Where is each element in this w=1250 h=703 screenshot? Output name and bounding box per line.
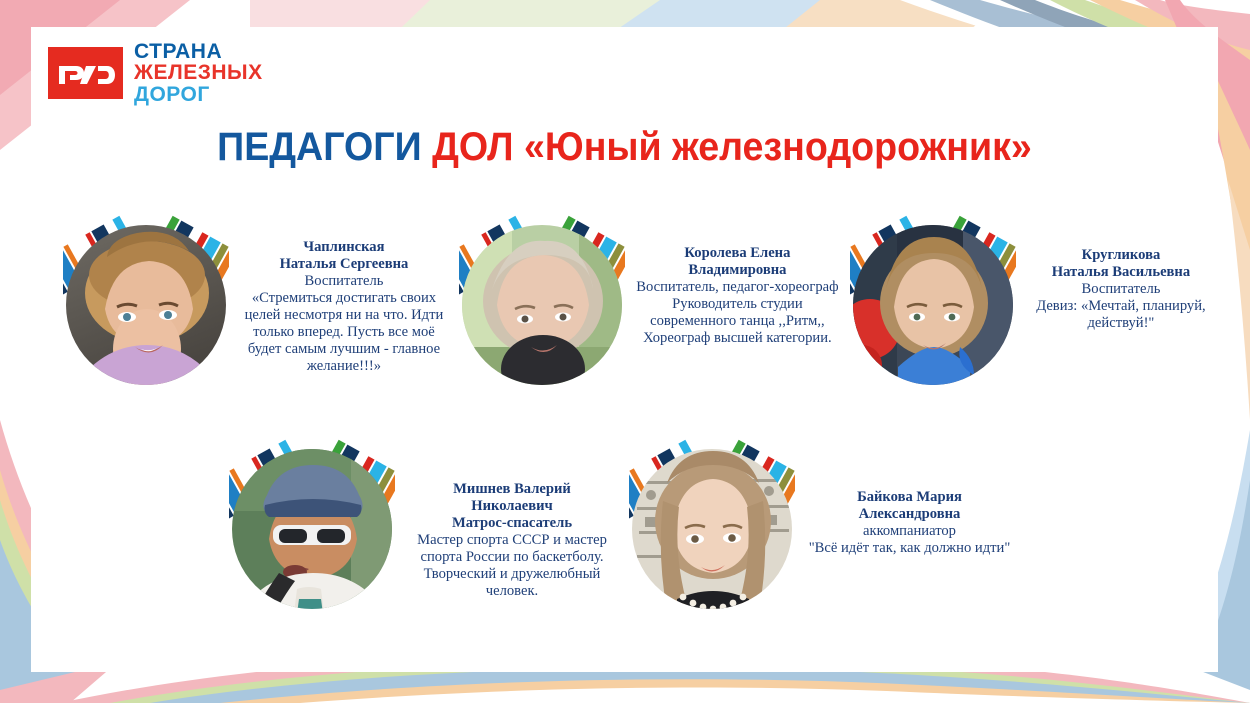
photo-chaplinskaya [66,225,226,397]
person-info: Кругликова Наталья Васильевна Воспитател… [1024,197,1218,332]
person-motto: Девиз: «Мечтай, планируй, действуй!" [1024,298,1218,332]
person-motto: Руководитель студии современного танца ,… [633,296,842,347]
person-role: Воспитатель [237,273,451,290]
person-role: Матрос-спасатель [403,515,621,532]
person-motto: "Всё идёт так, как должно идти" [803,540,1016,557]
person-info: Чаплинская Наталья Сергеевна Воспитатель… [237,197,451,376]
person-role: Воспитатель, педагог-хореограф [633,279,842,296]
page-title-blue: ПЕДАГОГИ [217,125,432,169]
people-row-top: Чаплинская Наталья Сергеевна Воспитатель… [31,197,1218,397]
person-card: Королева Елена Владимировна Воспитатель,… [451,197,842,397]
logo-line-2: ЖЕЛЕЗНЫХ [134,62,263,83]
person-name-line1: Чаплинская [237,239,451,256]
person-name-line1: Мишнев Валерий [403,481,621,498]
person-name-line1: Королева Елена [633,245,842,262]
person-name-line1: Байкова Мария [803,489,1016,506]
person-info: Мишнев Валерий Николаевич Матрос-спасате… [403,421,621,600]
photo-baykova [632,449,792,621]
person-name-line2: Николаевич [403,498,621,515]
rzd-logo-text: СТРАНА ЖЕЛЕЗНЫХ ДОРОГ [134,41,263,105]
person-card: Мишнев Валерий Николаевич Матрос-спасате… [221,421,621,621]
person-name-line2: Александровна [803,506,1016,523]
person-info: Байкова Мария Александровна аккомпаниато… [803,421,1016,557]
person-name-line2: Владимировна [633,262,842,279]
rzd-logo-mark-icon [48,47,123,99]
photo-frame-hexagon [842,197,1024,397]
page-title-red: ДОЛ «Юный железнодорожник» [432,125,1032,169]
person-name-line1: Кругликова [1024,247,1218,264]
page-title: ПЕДАГОГИ ДОЛ «Юный железнодорожник» [67,125,1183,170]
logo-line-1: СТРАНА [134,41,263,62]
people-grid: Чаплинская Наталья Сергеевна Воспитатель… [31,197,1218,621]
person-role: Воспитатель [1024,281,1218,298]
person-role: аккомпаниатор [803,523,1016,540]
person-motto: Мастер спорта СССР и мастер спорта Росси… [403,532,621,600]
photo-mishnev [232,449,392,621]
person-name-line2: Наталья Васильевна [1024,264,1218,281]
person-motto: «Стремиться достигать своих целей несмот… [237,290,451,375]
photo-frame-hexagon [451,197,633,397]
slide-card: СТРАНА ЖЕЛЕЗНЫХ ДОРОГ ПЕДАГОГИ ДОЛ «Юный… [31,27,1218,672]
photo-koroleva [462,225,622,397]
person-card: Чаплинская Наталья Сергеевна Воспитатель… [55,197,451,397]
logo-line-3: ДОРОГ [134,84,263,105]
rzd-logo: СТРАНА ЖЕЛЕЗНЫХ ДОРОГ [48,41,263,105]
photo-frame-hexagon [221,421,403,621]
photo-frame-hexagon [55,197,237,397]
people-row-bottom: Мишнев Валерий Николаевич Матрос-спасате… [31,421,1218,621]
person-card: Кругликова Наталья Васильевна Воспитател… [842,197,1218,397]
photo-frame-hexagon [621,421,803,621]
person-card: Байкова Мария Александровна аккомпаниато… [621,421,1016,621]
person-name-line2: Наталья Сергеевна [237,256,451,273]
person-info: Королева Елена Владимировна Воспитатель,… [633,197,842,347]
